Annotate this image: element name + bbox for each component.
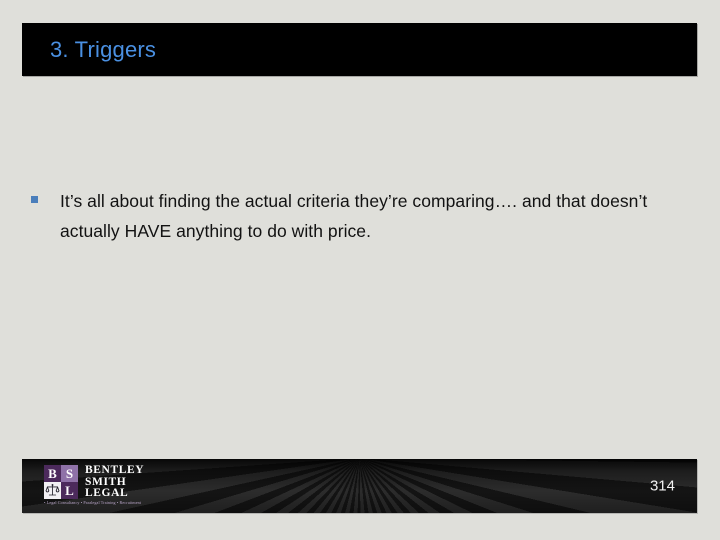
bentley-smith-legal-logo: B S bbox=[44, 465, 144, 500]
square-bullet-icon bbox=[31, 196, 38, 203]
slide-body: It’s all about finding the actual criter… bbox=[22, 186, 682, 246]
logo-letter-l: L bbox=[61, 482, 78, 499]
logo-tagline: • Legal Consultancy • Paralegal Training… bbox=[44, 500, 141, 505]
slide-title-band: 3. Triggers bbox=[22, 23, 697, 76]
logo-word-legal: LEGAL bbox=[85, 488, 144, 500]
slide-footer-band: B S bbox=[22, 459, 697, 513]
scales-of-justice-icon bbox=[44, 482, 61, 499]
page-title: 3. Triggers bbox=[50, 37, 156, 63]
logo-letter-b: B bbox=[44, 465, 61, 482]
list-item: It’s all about finding the actual criter… bbox=[22, 186, 682, 246]
page-number: 314 bbox=[650, 478, 675, 495]
logo-word-bentley: BENTLEY bbox=[85, 465, 144, 477]
logo-mark: B S bbox=[44, 465, 78, 499]
logo-wordmark: BENTLEY SMITH LEGAL bbox=[85, 465, 144, 500]
logo-letter-s: S bbox=[61, 465, 78, 482]
slide-canvas: 3. Triggers It’s all about finding the a… bbox=[0, 0, 720, 540]
bullet-text: It’s all about finding the actual criter… bbox=[60, 191, 647, 241]
